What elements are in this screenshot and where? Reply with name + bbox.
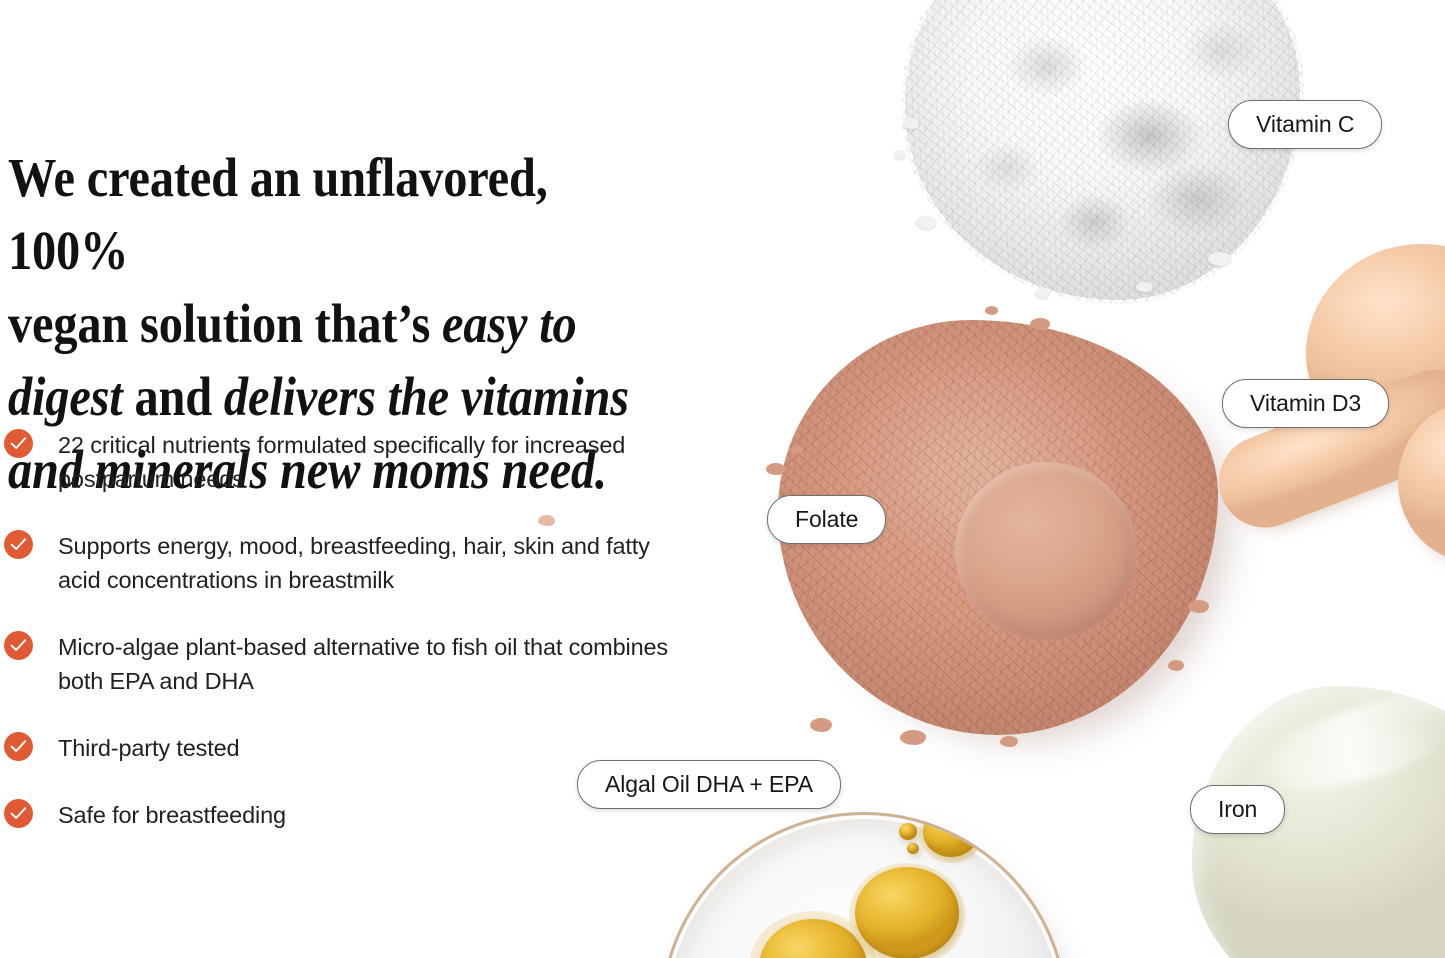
headline-line2-bold: vegan solution	[8, 293, 303, 354]
check-circle-icon	[4, 732, 33, 761]
ingredient-label-vitamin-d3: Vitamin D3	[1222, 379, 1389, 428]
benefit-text: Safe for breastfeeding	[58, 798, 286, 832]
list-item: Third-party tested	[4, 731, 684, 765]
list-item: Micro-algae plant-based alternative to f…	[4, 630, 684, 698]
ingredient-label-algal-oil-dha-epa: Algal Oil DHA + EPA	[577, 760, 841, 809]
headline-line1-roman: We created an unflavored,	[8, 147, 548, 208]
headline-line2-italic: easy to	[442, 293, 577, 354]
benefit-text: Third-party tested	[58, 731, 239, 765]
ingredient-label-iron: Iron	[1190, 785, 1285, 834]
headline-line1-bold: 100%	[8, 220, 128, 281]
ingredient-label-folate: Folate	[767, 495, 886, 544]
headline-line3-italic-a: digest	[8, 366, 123, 427]
benefit-text: Micro-algae plant-based alternative to f…	[58, 630, 684, 698]
content-layer: We created an unflavored, 100%vegan solu…	[0, 0, 1445, 958]
benefit-text: Supports energy, mood, breastfeeding, ha…	[58, 529, 684, 597]
headline-line3-roman: and	[123, 366, 224, 427]
ingredient-label-vitamin-c: Vitamin C	[1228, 100, 1382, 149]
check-circle-icon	[4, 530, 33, 559]
list-item: Supports energy, mood, breastfeeding, ha…	[4, 529, 684, 597]
check-circle-icon	[4, 799, 33, 828]
benefit-text: 22 critical nutrients formulated specifi…	[58, 428, 684, 496]
product-feature-banner: We created an unflavored, 100%vegan solu…	[0, 0, 1445, 958]
check-circle-icon	[4, 429, 33, 458]
headline-line2-roman: that’s	[303, 293, 442, 354]
headline-line3-italic-b: delivers the vitamins	[224, 366, 629, 427]
list-item: 22 critical nutrients formulated specifi…	[4, 428, 684, 496]
check-circle-icon	[4, 631, 33, 660]
list-item: Safe for breastfeeding	[4, 798, 684, 832]
